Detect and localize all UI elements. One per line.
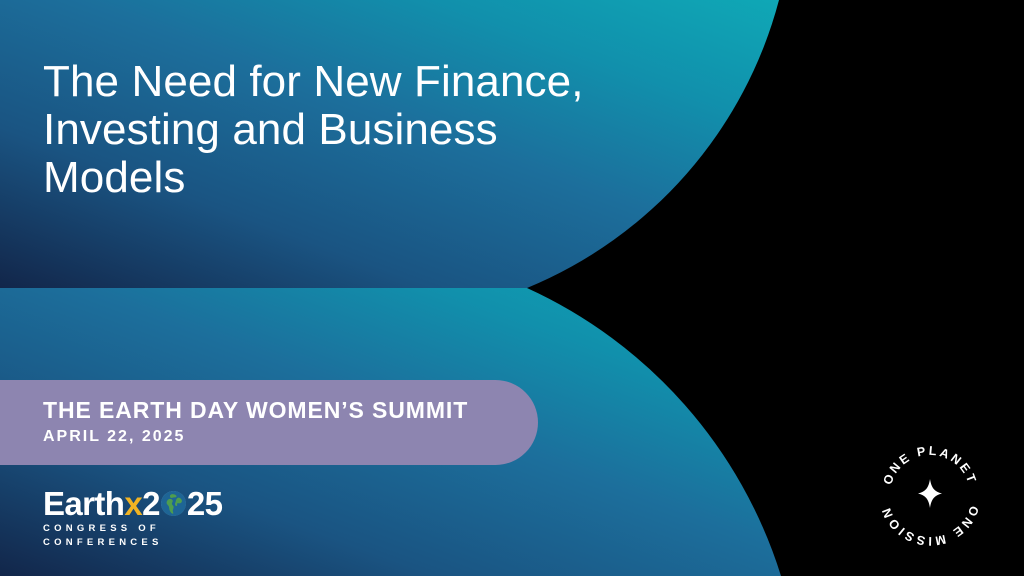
earthx-logo: Earth x 2 25 CONGRESS OF CONFERENCES	[43, 487, 243, 550]
logo-year-prefix: 2	[142, 487, 160, 520]
logo-year-suffix: 25	[187, 487, 223, 520]
badge-bottom-text: ONE MISSION	[879, 504, 982, 547]
logo-brand-x: x	[124, 487, 142, 520]
title-block: The Need for New Finance, Investing and …	[43, 58, 643, 202]
event-date: APRIL 22, 2025	[43, 426, 538, 448]
logo-brand-earth: Earth	[43, 487, 124, 520]
globe-icon	[161, 491, 186, 516]
event-name: THE EARTH DAY WOMEN’S SUMMIT	[43, 397, 538, 424]
logo-wordmark: Earth x 2 25	[43, 487, 243, 520]
four-point-star-icon	[918, 479, 942, 508]
page-title: The Need for New Finance, Investing and …	[43, 58, 643, 202]
presentation-slide: The Need for New Finance, Investing and …	[0, 0, 1024, 576]
event-banner: THE EARTH DAY WOMEN’S SUMMIT APRIL 22, 2…	[0, 380, 538, 465]
logo-tagline: CONGRESS OF CONFERENCES	[43, 522, 243, 550]
one-planet-one-mission-badge: ONE PLANET ONE MISSION	[878, 443, 982, 547]
